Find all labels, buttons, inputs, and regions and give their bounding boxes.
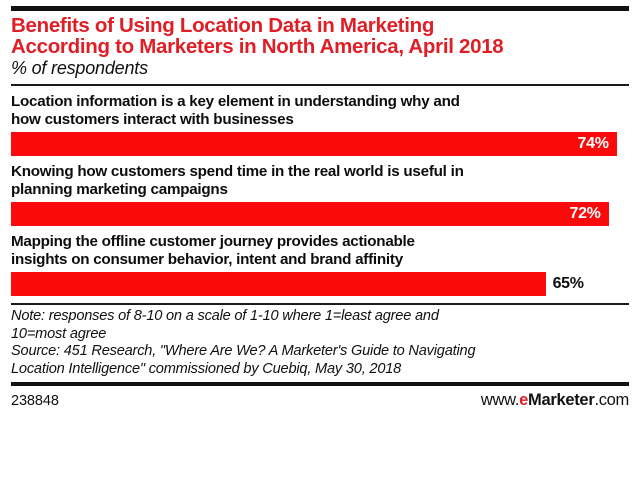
note-text: Note: responses of 8-10 on a scale of 1-… bbox=[11, 308, 629, 343]
bar-track: 72% bbox=[11, 202, 629, 226]
footer: 238848 www.eMarketer.com bbox=[11, 386, 629, 410]
bar-label: Location information is a key element in… bbox=[11, 93, 629, 128]
bar-fill bbox=[11, 272, 546, 296]
bar-track: 74% bbox=[11, 132, 629, 156]
bar-group: Knowing how customers spend time in the … bbox=[11, 163, 629, 226]
bar-value-label: 74% bbox=[578, 136, 617, 152]
bar-value-label: 65% bbox=[546, 272, 584, 296]
emarketer-chart: Benefits of Using Location Data in Marke… bbox=[0, 6, 640, 482]
bar-group: Mapping the offline customer journey pro… bbox=[11, 233, 629, 296]
source-text: Source: 451 Research, "Where Are We? A M… bbox=[11, 343, 629, 378]
bar-value-label: 72% bbox=[569, 206, 608, 222]
header-block: Benefits of Using Location Data in Marke… bbox=[11, 11, 629, 79]
logo-marketer-text: Marketer bbox=[528, 391, 594, 409]
bar-track: 65% bbox=[11, 272, 629, 296]
logo-www-text: www. bbox=[481, 391, 519, 409]
chart-title: Benefits of Using Location Data in Marke… bbox=[11, 15, 629, 57]
bar-group: Location information is a key element in… bbox=[11, 93, 629, 156]
bar-fill: 72% bbox=[11, 202, 609, 226]
bar-fill: 74% bbox=[11, 132, 617, 156]
notes-block: Note: responses of 8-10 on a scale of 1-… bbox=[11, 305, 629, 378]
chart-id: 238848 bbox=[11, 393, 59, 409]
emarketer-logo[interactable]: www.eMarketer.com bbox=[481, 391, 629, 410]
bar-label: Mapping the offline customer journey pro… bbox=[11, 233, 629, 268]
chart-subtitle: % of respondents bbox=[11, 58, 629, 79]
bars-area: Location information is a key element in… bbox=[11, 86, 629, 296]
bar-label: Knowing how customers spend time in the … bbox=[11, 163, 629, 198]
logo-e-text: e bbox=[519, 391, 528, 409]
logo-com-text: .com bbox=[594, 391, 629, 409]
